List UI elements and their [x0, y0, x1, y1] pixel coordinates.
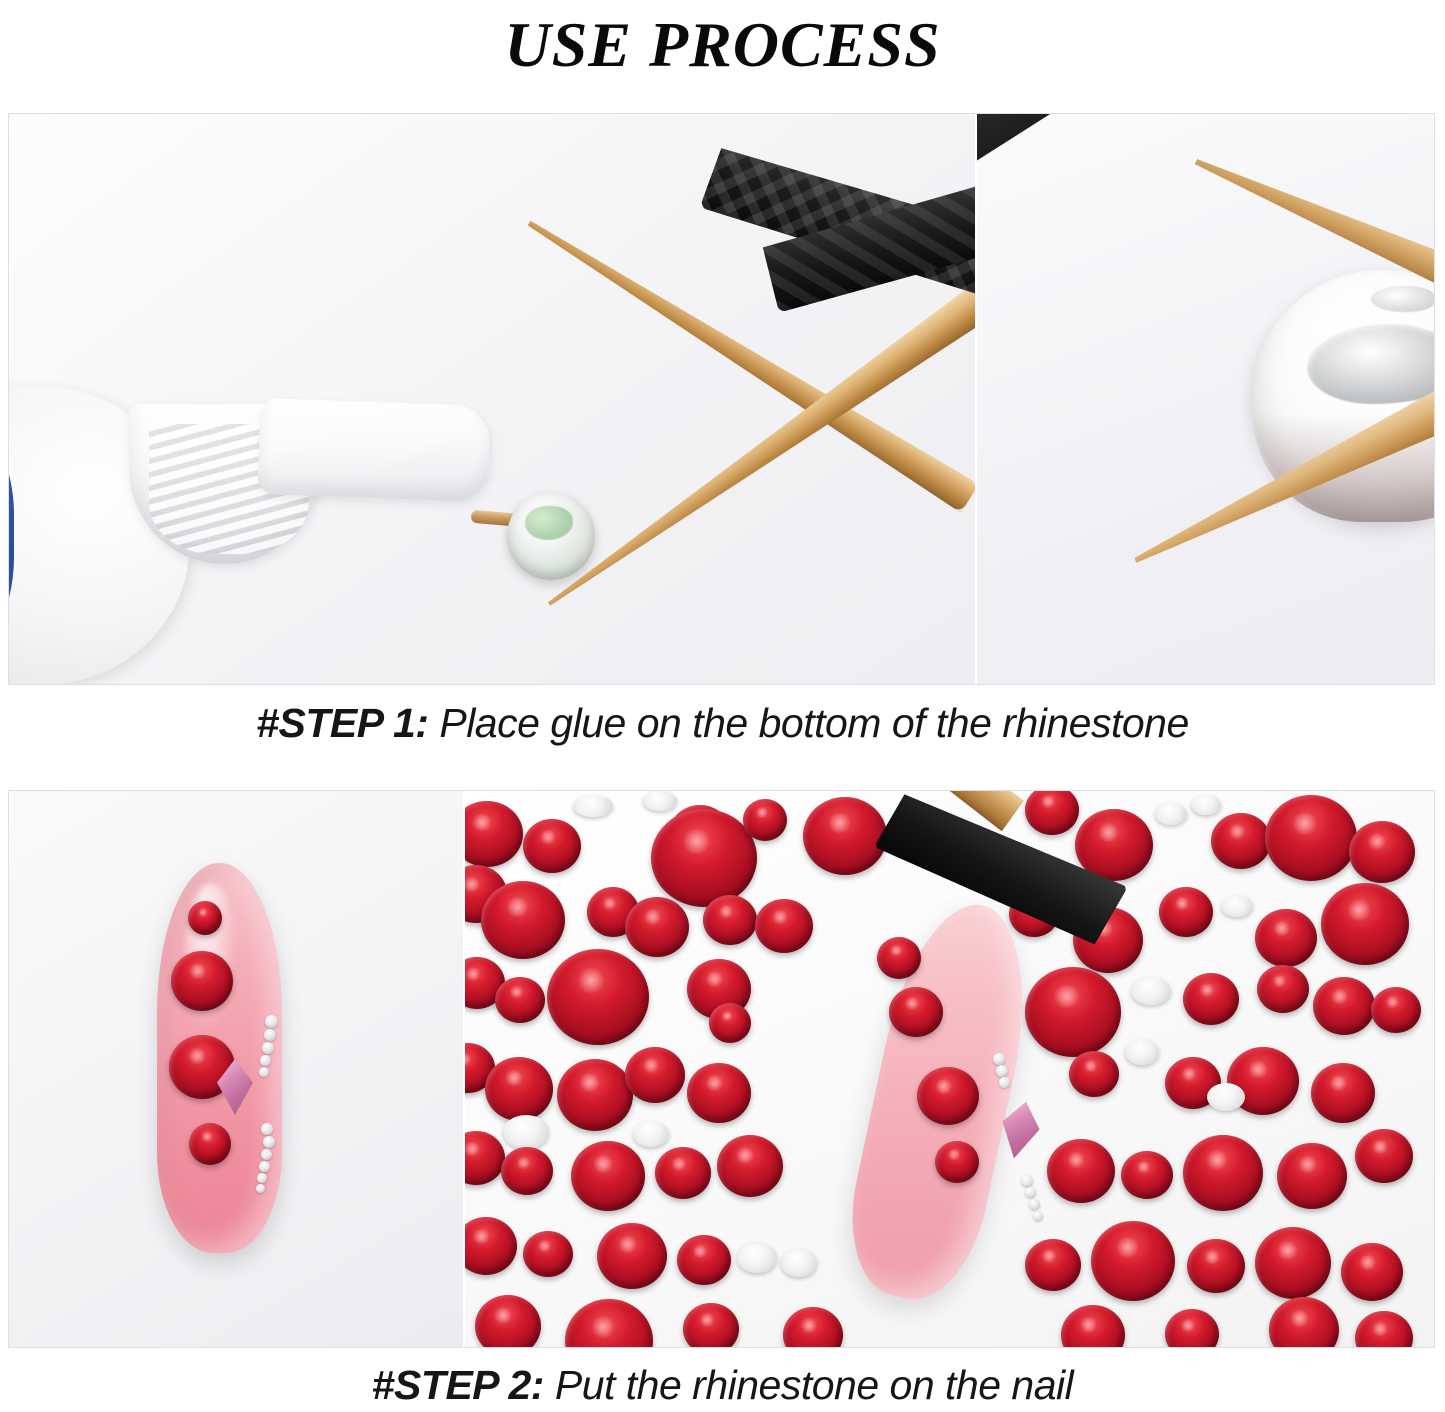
loose-rhinestone [1183, 973, 1239, 1025]
rhinestone-field [465, 791, 1434, 1347]
loose-rhinestone [651, 809, 757, 907]
step-1-panels [8, 113, 1435, 685]
page-title: USE PROCESS [0, 0, 1445, 90]
applying-rhinestone-photo [465, 791, 1434, 1347]
loose-rhinestone [1165, 1309, 1219, 1347]
micro-bead [1025, 1187, 1036, 1198]
loose-rhinestone [465, 1217, 517, 1275]
rhinestone-back-with-glue-photo [977, 114, 1434, 684]
loose-rhinestone [1355, 1311, 1413, 1347]
nail-rhinestone [935, 1141, 979, 1183]
loose-rhinestone [1061, 1305, 1125, 1347]
step-2-panels [8, 790, 1435, 1348]
rhinestone-flat-back [1191, 795, 1221, 815]
loose-rhinestone [475, 1295, 541, 1347]
loose-rhinestone [1311, 1063, 1375, 1123]
nail-rhinestone [189, 1123, 231, 1165]
loose-rhinestone [683, 1303, 739, 1347]
loose-rhinestone [1349, 821, 1415, 883]
loose-rhinestone [485, 1057, 553, 1121]
micro-bead [256, 1184, 265, 1193]
loose-rhinestone [571, 1141, 645, 1211]
loose-rhinestone [1211, 813, 1271, 869]
loose-rhinestone [1183, 1135, 1263, 1211]
loose-rhinestone [557, 1059, 633, 1131]
tweezer-grip-corner [977, 114, 1069, 172]
loose-rhinestone [481, 881, 565, 959]
step-1-label: #STEP 1: [256, 700, 428, 746]
loose-rhinestone [1091, 1221, 1175, 1301]
micro-bead [259, 1161, 270, 1172]
loose-rhinestone [465, 801, 523, 867]
loose-rhinestone [625, 897, 689, 957]
nail-rhinestone [171, 951, 233, 1011]
loose-rhinestone [1255, 909, 1317, 967]
micro-bead [262, 1042, 274, 1054]
micro-bead [263, 1136, 275, 1148]
micro-bead [999, 1077, 1010, 1088]
micro-bead [1033, 1211, 1043, 1221]
loose-rhinestone [717, 1135, 783, 1197]
loose-rhinestone [1159, 887, 1213, 937]
loose-rhinestone [1371, 987, 1421, 1033]
glue-applied-to-rhinestone-photo [9, 114, 975, 684]
loose-rhinestone [465, 1131, 505, 1185]
micro-bead [1029, 1199, 1040, 1210]
loose-rhinestone [495, 977, 545, 1023]
step-1-text: Place glue on the bottom of the rhinesto… [428, 700, 1188, 746]
loose-rhinestone [1355, 1129, 1413, 1183]
loose-rhinestone [1025, 1239, 1081, 1291]
loose-rhinestone [1025, 967, 1121, 1057]
loose-rhinestone [523, 1231, 573, 1277]
step-2-text: Put the rhinestone on the nail [544, 1362, 1073, 1408]
rhinestone-flat-back [1221, 895, 1253, 917]
loose-rhinestone [501, 1147, 553, 1195]
micro-bead [993, 1053, 1005, 1065]
loose-rhinestone [709, 1003, 751, 1043]
rhinestone-flat-back [633, 1121, 669, 1147]
step-2-caption: #STEP 2: Put the rhinestone on the nail [0, 1362, 1445, 1409]
step-2-label: #STEP 2: [372, 1362, 544, 1408]
loose-rhinestone [625, 1047, 685, 1103]
glue-bottle-nozzle [257, 398, 490, 502]
loose-rhinestone [565, 1299, 653, 1347]
micro-bead [264, 1029, 276, 1041]
micro-bead [257, 1173, 267, 1183]
loose-rhinestone [1257, 965, 1309, 1013]
loose-rhinestone [1255, 1227, 1331, 1299]
rhinestone-flat-back [503, 1115, 549, 1149]
loose-rhinestone [755, 899, 813, 953]
micro-bead [259, 1067, 269, 1077]
loose-rhinestone [1025, 791, 1079, 835]
loose-rhinestone [1047, 1139, 1115, 1203]
nail-rhinestone [877, 937, 921, 979]
infographic-page: USE PROCESS [0, 0, 1445, 1412]
micro-bead [261, 1149, 272, 1160]
glue-bubble [1371, 286, 1434, 312]
micro-bead [260, 1055, 271, 1066]
rhinestone-flat-back [1131, 977, 1171, 1005]
loose-rhinestone [677, 1235, 731, 1285]
loose-rhinestone [783, 1307, 843, 1347]
loose-rhinestone [1269, 1297, 1339, 1347]
step-1-image-row [8, 113, 1435, 685]
step-1-caption: #STEP 1: Place glue on the bottom of the… [0, 700, 1445, 747]
loose-rhinestone [523, 819, 581, 873]
micro-bead [1021, 1175, 1033, 1187]
loose-rhinestone [655, 1147, 711, 1199]
loose-rhinestone [687, 1063, 751, 1123]
loose-rhinestone [743, 799, 787, 841]
loose-rhinestone [1121, 1151, 1173, 1199]
loose-rhinestone [597, 1223, 667, 1289]
nail-rhinestone [188, 901, 222, 935]
rhinestone-flat-back [1155, 803, 1187, 825]
rhinestone-flat-back [1207, 1083, 1245, 1111]
rhinestone-flat-back [1125, 1039, 1159, 1065]
finished-nail-photo [9, 791, 463, 1347]
loose-rhinestone [803, 797, 887, 875]
loose-rhinestone [703, 895, 757, 945]
nail-rhinestone [889, 987, 943, 1037]
nail-rhinestone [917, 1067, 979, 1125]
loose-rhinestone [1321, 883, 1409, 965]
loose-rhinestone [1277, 1143, 1347, 1209]
loose-rhinestone [1265, 795, 1357, 881]
micro-bead [265, 1015, 278, 1028]
loose-rhinestone [1341, 1243, 1403, 1301]
micro-bead [261, 1123, 273, 1135]
rhinestone-flat-back [573, 795, 613, 817]
loose-rhinestone [547, 949, 649, 1045]
rhinestone-flat-back [737, 1243, 777, 1273]
loose-rhinestone [1187, 1239, 1245, 1293]
micro-bead [996, 1065, 1008, 1077]
rhinestone-flat-back [781, 1249, 817, 1277]
step-2-image-row [8, 790, 1435, 1348]
rhinestone-flat-back [643, 791, 677, 811]
loose-rhinestone [1313, 977, 1375, 1035]
loose-rhinestone [1069, 1051, 1119, 1097]
